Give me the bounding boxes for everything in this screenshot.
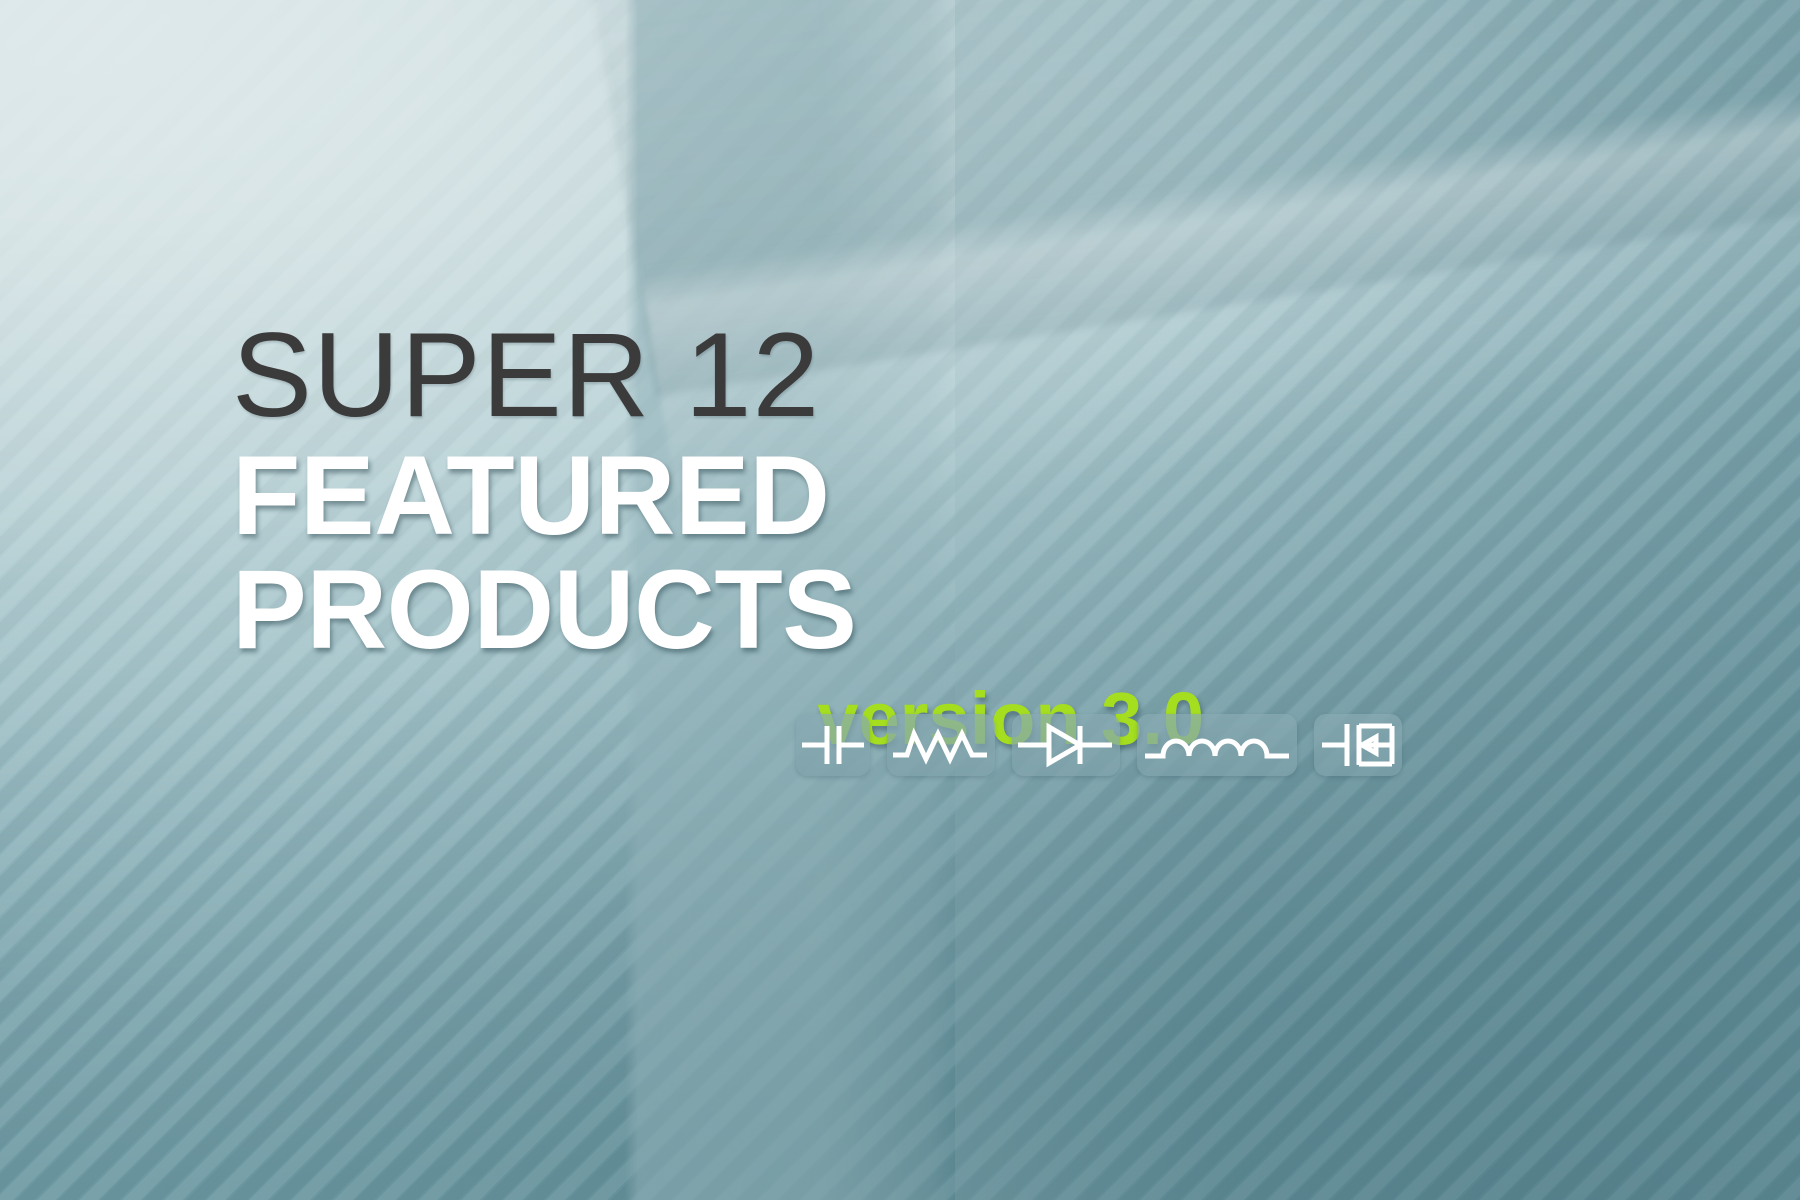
diode-icon (1012, 714, 1120, 776)
component-icon-strip (0, 714, 1600, 776)
inductor-icon (1137, 714, 1297, 776)
headline-large: FEATURED PRODUCTS (0, 439, 1402, 667)
title-block: SUPER 12 FEATURED PRODUCTS version 3.0 (0, 318, 1600, 756)
headline-small: SUPER 12 (0, 318, 1402, 433)
transistor-icon (1314, 714, 1402, 776)
title-slide: SUPER 12 FEATURED PRODUCTS version 3.0 (0, 0, 1800, 1200)
resistor-icon (887, 714, 995, 776)
capacitor-icon (796, 714, 870, 776)
